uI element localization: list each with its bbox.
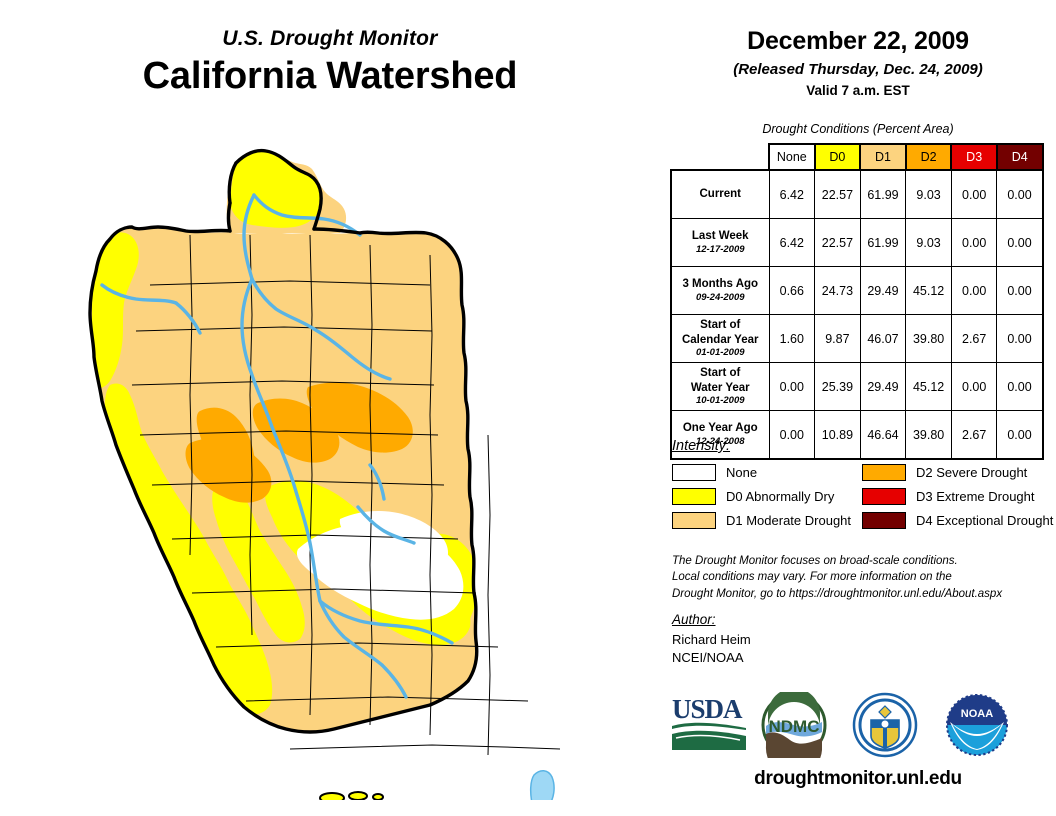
cell-3months-d3: 0.00 [951, 267, 997, 315]
cell-lastweek-d2: 9.03 [906, 219, 952, 267]
drought-conditions-table: None D0 D1 D2 D3 D4 Current 6.42 22.57 6… [670, 143, 1044, 460]
cell-wateryear-d1: 29.49 [860, 363, 906, 411]
row-label-text: 3 Months Ago [682, 278, 758, 290]
release-date: (Released Thursday, Dec. 24, 2009) [660, 61, 1056, 78]
disclaimer-line-1: The Drought Monitor focuses on broad-sca… [672, 553, 1056, 569]
table-head: None D0 D1 D2 D3 D4 [671, 144, 1043, 170]
row-label-text: Start ofWater Year [691, 367, 750, 393]
legend-item-d2: D2 Severe Drought [862, 464, 1056, 481]
cell-lastweek-none: 6.42 [769, 219, 815, 267]
col-header-d4: D4 [997, 144, 1043, 170]
legend-swatch-d1 [672, 512, 716, 529]
cell-calyear-d0: 9.87 [815, 315, 861, 363]
table-row: Start ofCalendar Year 01-01-2009 1.60 9.… [671, 315, 1043, 363]
legend-label-d2: D2 Severe Drought [916, 465, 1027, 480]
row-label-text: Current [699, 188, 741, 200]
cell-lastweek-d4: 0.00 [997, 219, 1043, 267]
cell-wateryear-d4: 0.00 [997, 363, 1043, 411]
legend-swatch-d4 [862, 512, 906, 529]
map-final [40, 135, 640, 800]
title-block: U.S. Drought Monitor California Watershe… [0, 28, 660, 99]
table-corner-cell [671, 144, 769, 170]
legend-swatch-d3 [862, 488, 906, 505]
cell-3months-d0: 24.73 [815, 267, 861, 315]
row-label-date: 01-01-2009 [675, 347, 766, 359]
table-body: Current 6.42 22.57 61.99 9.03 0.00 0.00 … [671, 170, 1043, 459]
site-url[interactable]: droughtmonitor.unl.edu [660, 768, 1056, 790]
disclaimer-text: The Drought Monitor focuses on broad-sca… [672, 553, 1056, 602]
row-label-start-calendar-year: Start ofCalendar Year 01-01-2009 [671, 315, 769, 363]
page-title: California Watershed [0, 54, 660, 99]
legend-item-none: None [672, 464, 862, 481]
cell-wateryear-d2: 45.12 [906, 363, 952, 411]
cell-calyear-d4: 0.00 [997, 315, 1043, 363]
legend-label-d0: D0 Abnormally Dry [726, 489, 834, 504]
legend-label-d4: D4 Exceptional Drought [916, 513, 1053, 528]
date-block: December 22, 2009 (Released Thursday, De… [660, 28, 1056, 98]
table-row: 3 Months Ago 09-24-2009 0.66 24.73 29.49… [671, 267, 1043, 315]
col-header-none: None [769, 144, 815, 170]
cell-lastweek-d3: 0.00 [951, 219, 997, 267]
cell-current-d1: 61.99 [860, 170, 906, 219]
author-heading: Author: [672, 612, 972, 627]
cell-lastweek-d0: 22.57 [815, 219, 861, 267]
doc-logo[interactable] [850, 692, 920, 758]
cell-calyear-d3: 2.67 [951, 315, 997, 363]
row-label-date: 10-01-2009 [675, 395, 766, 407]
cell-current-none: 6.42 [769, 170, 815, 219]
col-header-d3: D3 [951, 144, 997, 170]
col-header-d0: D0 [815, 144, 861, 170]
usda-logo[interactable]: USDA [670, 692, 748, 752]
cell-current-d3: 0.00 [951, 170, 997, 219]
row-label-date: 12-17-2009 [675, 244, 766, 256]
legend-item-d3: D3 Extreme Drought [862, 488, 1056, 505]
row-label-text: One Year Ago [683, 422, 758, 434]
col-header-d1: D1 [860, 144, 906, 170]
legend-item-d1: D1 Moderate Drought [672, 512, 862, 529]
cell-current-d0: 22.57 [815, 170, 861, 219]
cell-wateryear-d0: 25.39 [815, 363, 861, 411]
map-date: December 22, 2009 [660, 28, 1056, 56]
valid-time: Valid 7 a.m. EST [660, 83, 1056, 98]
legend-label-none: None [726, 465, 757, 480]
row-label-start-water-year: Start ofWater Year 10-01-2009 [671, 363, 769, 411]
info-panel: December 22, 2009 (Released Thursday, De… [660, 0, 1056, 816]
svg-text:NDMC: NDMC [769, 717, 820, 736]
intensity-legend: Intensity: None D2 Severe Drought D0 Abn… [672, 438, 1056, 532]
drought-map[interactable] [40, 135, 640, 800]
org-title: U.S. Drought Monitor [0, 28, 660, 50]
cell-wateryear-none: 0.00 [769, 363, 815, 411]
table-caption: Drought Conditions (Percent Area) [660, 122, 1056, 136]
legend-label-d3: D3 Extreme Drought [916, 489, 1035, 504]
cell-3months-d4: 0.00 [997, 267, 1043, 315]
disclaimer-line-2: Local conditions may vary. For more info… [672, 569, 1056, 585]
svg-text:NOAA: NOAA [961, 708, 993, 720]
legend-grid: None D2 Severe Drought D0 Abnormally Dry… [672, 460, 1056, 532]
ndmc-logo[interactable]: NDMC [758, 692, 830, 758]
svg-text:USDA: USDA [672, 694, 743, 724]
row-label-text: Start ofCalendar Year [682, 319, 759, 345]
legend-label-d1: D1 Moderate Drought [726, 513, 851, 528]
legend-swatch-d2 [862, 464, 906, 481]
cell-3months-d2: 45.12 [906, 267, 952, 315]
author-name: Richard Heim [672, 631, 972, 649]
row-label-last-week: Last Week 12-17-2009 [671, 219, 769, 267]
map-salton-sea [531, 771, 554, 800]
cell-calyear-d2: 39.80 [906, 315, 952, 363]
table-row: Current 6.42 22.57 61.99 9.03 0.00 0.00 [671, 170, 1043, 219]
table-row: Last Week 12-17-2009 6.42 22.57 61.99 9.… [671, 219, 1043, 267]
california-watershed-map-svg[interactable] [40, 135, 640, 800]
table-row: Start ofWater Year 10-01-2009 0.00 25.39… [671, 363, 1043, 411]
legend-swatch-none [672, 464, 716, 481]
cell-wateryear-d3: 0.00 [951, 363, 997, 411]
noaa-logo[interactable]: NOAA [942, 692, 1012, 758]
legend-item-d0: D0 Abnormally Dry [672, 488, 862, 505]
author-block: Author: Richard Heim NCEI/NOAA [672, 612, 972, 668]
disclaimer-line-3[interactable]: Drought Monitor, go to https://droughtmo… [672, 586, 1056, 602]
cell-lastweek-d1: 61.99 [860, 219, 906, 267]
cell-current-d4: 0.00 [997, 170, 1043, 219]
table-header-row: None D0 D1 D2 D3 D4 [671, 144, 1043, 170]
legend-swatch-d0 [672, 488, 716, 505]
cell-3months-none: 0.66 [769, 267, 815, 315]
col-header-d2: D2 [906, 144, 952, 170]
row-label-current: Current [671, 170, 769, 219]
legend-item-d4: D4 Exceptional Drought [862, 512, 1056, 529]
map-panel: U.S. Drought Monitor California Watershe… [0, 0, 660, 816]
author-affiliation: NCEI/NOAA [672, 649, 972, 667]
row-label-text: Last Week [692, 230, 749, 242]
cell-calyear-none: 1.60 [769, 315, 815, 363]
cell-calyear-d1: 46.07 [860, 315, 906, 363]
row-label-3-months-ago: 3 Months Ago 09-24-2009 [671, 267, 769, 315]
cell-current-d2: 9.03 [906, 170, 952, 219]
logo-row: USDA NDMC [660, 692, 1056, 762]
row-label-date: 09-24-2009 [675, 292, 766, 304]
cell-3months-d1: 29.49 [860, 267, 906, 315]
intensity-heading: Intensity: [672, 438, 1056, 454]
